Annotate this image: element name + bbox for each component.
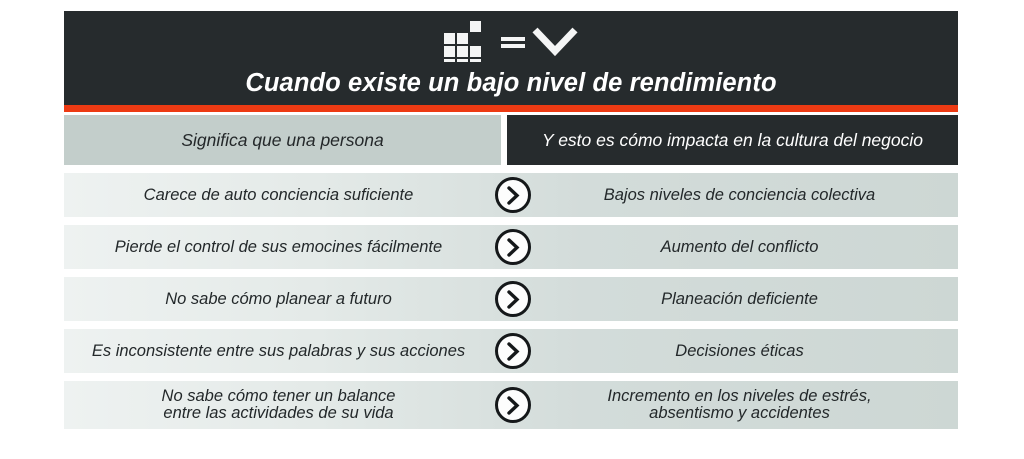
chevron-right-circle-icon xyxy=(495,387,531,423)
chevron-right-circle-icon xyxy=(495,229,531,265)
row-impact-cell: Incremento en los niveles de estrés, abs… xyxy=(521,381,958,429)
row-impact-cell: Decisiones éticas xyxy=(521,329,958,373)
column-header-left: Significa que una persona xyxy=(64,115,501,165)
grid-blocks-icon xyxy=(444,21,494,68)
row-cause-cell: No sabe cómo planear a futuro xyxy=(64,277,501,321)
row-cause-cell: No sabe cómo tener un balance entre las … xyxy=(64,381,501,429)
row-cause-text: Pierde el control de sus emocines fácilm… xyxy=(115,239,442,256)
row-cause-text: No sabe cómo planear a futuro xyxy=(165,291,392,308)
chevron-right-circle-icon xyxy=(495,333,531,369)
row-impact-text: Aumento del conflicto xyxy=(661,239,819,256)
infographic-board: Cuando existe un bajo nivel de rendimien… xyxy=(64,11,958,429)
row-impact-text: Planeación deficiente xyxy=(661,291,818,308)
accent-bar xyxy=(64,105,958,112)
infographic-root: Cuando existe un bajo nivel de rendimien… xyxy=(0,0,1024,459)
column-header-right: Y esto es cómo impacta en la cultura del… xyxy=(507,115,958,165)
row-impact-text: Decisiones éticas xyxy=(675,343,803,360)
column-header-left-label: Significa que una persona xyxy=(181,130,383,151)
column-header-row: Significa que una persona Y esto es cómo… xyxy=(64,115,958,165)
row-cause-text: Es inconsistente entre sus palabras y su… xyxy=(92,343,465,360)
chevron-right-circle-icon xyxy=(495,177,531,213)
row-impact-cell: Planeación deficiente xyxy=(521,277,958,321)
header-band: Cuando existe un bajo nivel de rendimien… xyxy=(64,11,958,105)
column-header-right-label: Y esto es cómo impacta en la cultura del… xyxy=(542,130,923,151)
row-cause-text: Carece de auto conciencia suficiente xyxy=(144,187,414,204)
row-impact-text: Bajos niveles de conciencia colectiva xyxy=(604,187,876,204)
table-row: Pierde el control de sus emocines fácilm… xyxy=(64,225,958,269)
row-cause-cell: Es inconsistente entre sus palabras y su… xyxy=(64,329,501,373)
table-row: No sabe cómo planear a futuro Planeación… xyxy=(64,277,958,321)
row-impact-cell: Bajos niveles de conciencia colectiva xyxy=(521,173,958,217)
equals-icon xyxy=(501,32,525,57)
page-title: Cuando existe un bajo nivel de rendimien… xyxy=(64,68,958,98)
row-cause-cell: Carece de auto conciencia suficiente xyxy=(64,173,501,217)
row-impact-cell: Aumento del conflicto xyxy=(521,225,958,269)
row-cause-text: No sabe cómo tener un balance entre las … xyxy=(162,388,396,422)
chevron-right-circle-icon xyxy=(495,281,531,317)
chevron-down-icon xyxy=(532,27,578,62)
table-row: Carece de auto conciencia suficiente Baj… xyxy=(64,173,958,217)
row-cause-cell: Pierde el control de sus emocines fácilm… xyxy=(64,225,501,269)
header-icon-row xyxy=(64,21,958,67)
table-row: No sabe cómo tener un balance entre las … xyxy=(64,381,958,429)
table-row: Es inconsistente entre sus palabras y su… xyxy=(64,329,958,373)
row-impact-text: Incremento en los niveles de estrés, abs… xyxy=(607,388,871,422)
